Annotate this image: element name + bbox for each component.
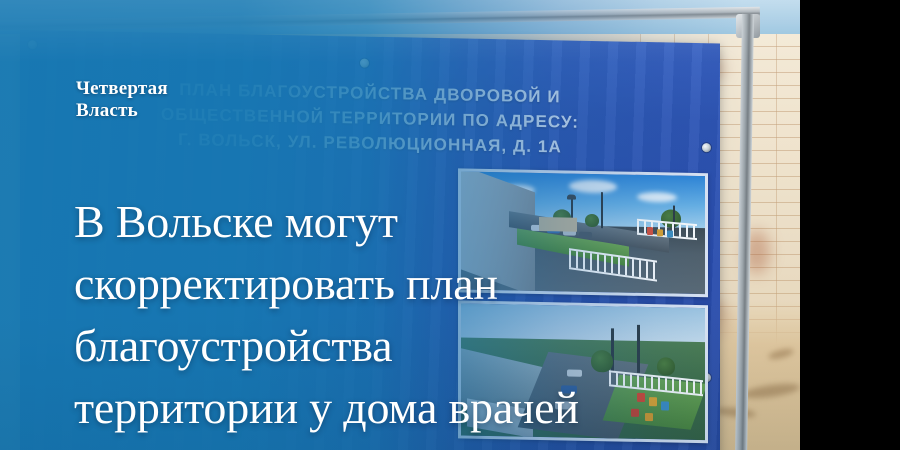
right-black-bar bbox=[800, 0, 900, 450]
site-logo[interactable]: Четвертая Власть bbox=[76, 78, 168, 122]
news-thumbnail-card: ПЛАН БЛАГОУСТРОЙСТВА ДВОРОВОЙ И ОБЩЕСТВЕ… bbox=[0, 0, 900, 450]
article-headline[interactable]: В Вольске могут скорректировать план бла… bbox=[74, 191, 814, 439]
